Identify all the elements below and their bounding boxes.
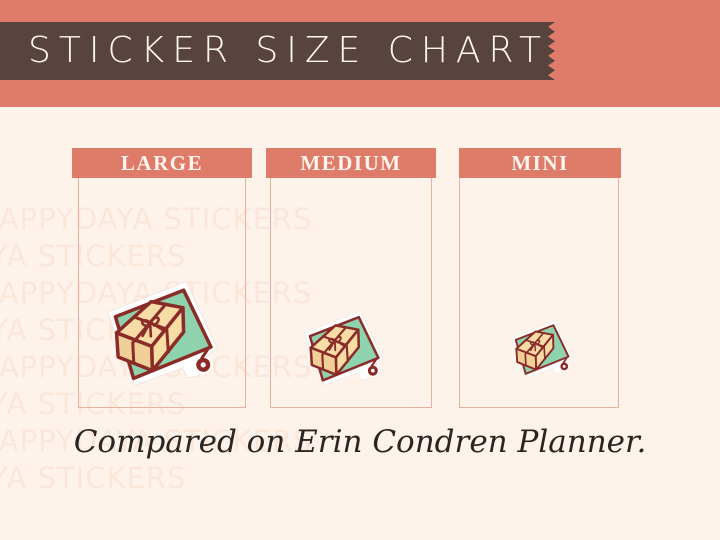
size-label-mini: MINI — [511, 153, 568, 174]
gift-box-sticker-mini — [505, 318, 579, 383]
banner-torn-edge-icon — [544, 22, 558, 80]
gift-box-sticker-medium — [296, 308, 392, 392]
bottom-strip — [0, 507, 720, 540]
size-header-mini: MINI — [459, 148, 621, 178]
gift-box-sticker-large — [96, 278, 230, 394]
caption-text: Compared on Erin Condren Planner. — [74, 424, 647, 460]
title-banner: STICKER SIZE CHART — [0, 22, 544, 80]
page-title: STICKER SIZE CHART — [0, 33, 549, 69]
sticker-size-chart-page: STICKER SIZE CHART HAPPYDAYA STICKERS HA… — [0, 0, 720, 540]
size-label-medium: MEDIUM — [300, 153, 401, 174]
caption: Compared on Erin Condren Planner. — [0, 425, 720, 459]
size-header-medium: MEDIUM — [266, 148, 436, 178]
size-header-large: LARGE — [72, 148, 252, 178]
size-label-large: LARGE — [121, 153, 203, 174]
